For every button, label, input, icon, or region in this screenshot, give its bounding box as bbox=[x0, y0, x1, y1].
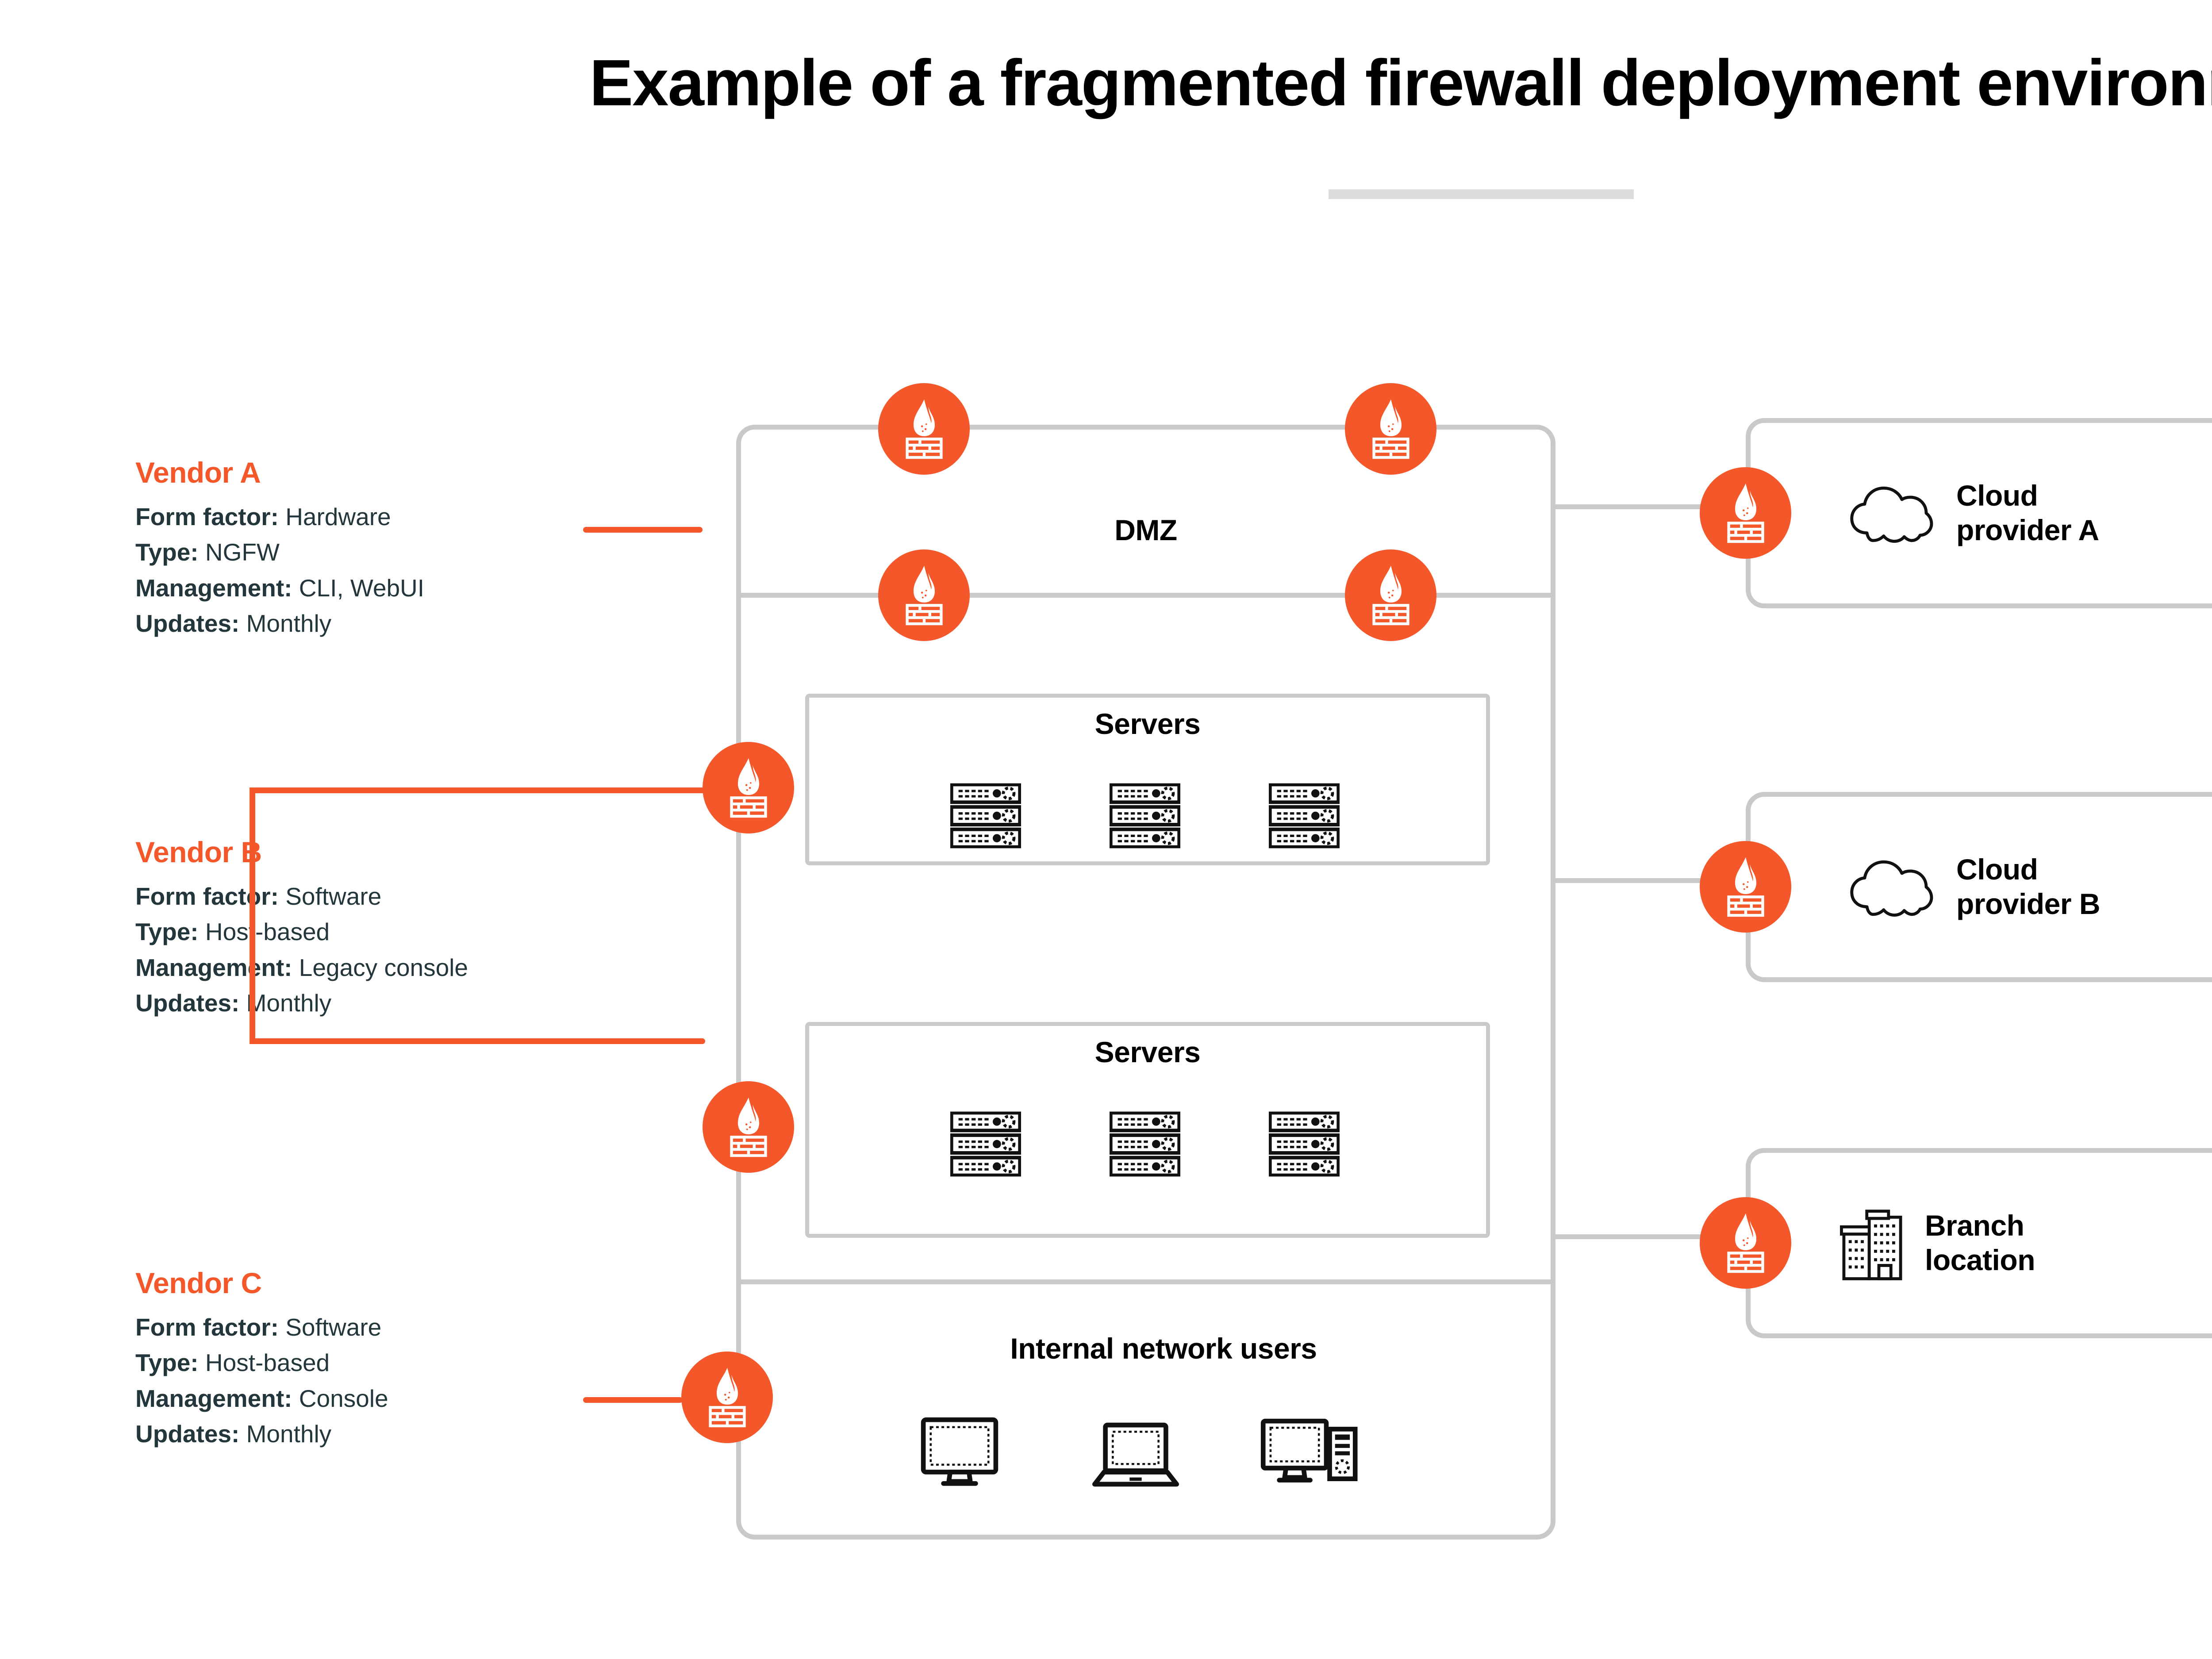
cloud-provider-b-card: Cloud provider B bbox=[1746, 792, 2212, 982]
firewall-icon[interactable] bbox=[1700, 467, 1791, 559]
firewall-icon[interactable] bbox=[1700, 1197, 1791, 1289]
servers-label-1: Servers bbox=[805, 707, 1490, 741]
server-rack-icon bbox=[950, 783, 1021, 849]
label-updates: Updates: bbox=[135, 610, 246, 637]
firewall-icon[interactable] bbox=[681, 1352, 773, 1443]
title-divider-rule bbox=[1329, 189, 1634, 199]
label-form-factor: Form factor: bbox=[135, 1313, 285, 1341]
building-icon bbox=[1839, 1204, 1905, 1283]
vendor-a-management: Management: CLI, WebUI bbox=[135, 570, 424, 606]
server-rack-icon bbox=[1269, 1111, 1340, 1177]
vendor-b-leader-line-bottom bbox=[250, 1038, 705, 1044]
internal-network-users-label: Internal network users bbox=[787, 1332, 1540, 1365]
value-management: Console bbox=[299, 1385, 388, 1412]
vendor-c-management: Management: Console bbox=[135, 1381, 388, 1416]
vendor-b-form-factor: Form factor: Software bbox=[135, 879, 468, 914]
vendor-b-leader-line-top bbox=[250, 787, 705, 793]
vendor-b-updates: Updates: Monthly bbox=[135, 985, 468, 1021]
cloud-b-line2: provider B bbox=[1956, 887, 2100, 920]
label-updates: Updates: bbox=[135, 1420, 246, 1448]
cloud-a-line1: Cloud bbox=[1956, 479, 2038, 512]
value-updates: Monthly bbox=[246, 610, 332, 637]
vendor-c-updates: Updates: Monthly bbox=[135, 1416, 388, 1452]
desktop-tower-icon bbox=[1259, 1416, 1360, 1490]
label-management: Management: bbox=[135, 574, 299, 602]
vendor-b-info: Vendor B Form factor: Software Type: Hos… bbox=[135, 835, 468, 1021]
firewall-icon[interactable] bbox=[878, 549, 970, 641]
vendor-a-name: Vendor A bbox=[135, 456, 424, 489]
firewall-icon[interactable] bbox=[1345, 549, 1436, 641]
cloud-icon bbox=[1846, 856, 1937, 918]
monitor-icon bbox=[919, 1416, 1000, 1490]
value-management: CLI, WebUI bbox=[299, 574, 424, 602]
label-updates: Updates: bbox=[135, 989, 246, 1017]
network-divider-internal bbox=[736, 1279, 1555, 1284]
vendor-a-leader-line bbox=[583, 527, 703, 533]
laptop-icon bbox=[1092, 1421, 1179, 1488]
firewall-icon[interactable] bbox=[1700, 841, 1791, 933]
vendor-c-type: Type: Host-based bbox=[135, 1345, 388, 1380]
servers-label-2: Servers bbox=[805, 1035, 1490, 1069]
branch-location-card: Branch location bbox=[1746, 1148, 2212, 1338]
server-rack-icon bbox=[1110, 1111, 1180, 1177]
label-management: Management: bbox=[135, 954, 299, 981]
server-rack-icon bbox=[1110, 783, 1180, 849]
value-type: Host-based bbox=[205, 1349, 330, 1376]
vendor-c-name: Vendor C bbox=[135, 1266, 388, 1300]
vendor-a-info: Vendor A Form factor: Hardware Type: NGF… bbox=[135, 456, 424, 641]
firewall-icon[interactable] bbox=[703, 742, 794, 833]
cloud-provider-a-card: Cloud provider A bbox=[1746, 418, 2212, 608]
value-updates: Monthly bbox=[246, 989, 332, 1017]
server-rack-icon bbox=[950, 1111, 1021, 1177]
firewall-icon[interactable] bbox=[703, 1081, 794, 1173]
vendor-c-form-factor: Form factor: Software bbox=[135, 1310, 388, 1345]
label-type: Type: bbox=[135, 1349, 205, 1376]
label-form-factor: Form factor: bbox=[135, 883, 285, 910]
vendor-a-type: Type: NGFW bbox=[135, 534, 424, 570]
server-rack-icon bbox=[1269, 783, 1340, 849]
vendor-c-leader-line bbox=[583, 1397, 683, 1403]
branch-line2: location bbox=[1925, 1244, 2035, 1276]
dmz-label: DMZ bbox=[736, 513, 1555, 547]
diagram-canvas: Example of a fragmented firewall deploym… bbox=[0, 0, 2212, 1659]
value-form-factor: Software bbox=[285, 1313, 381, 1341]
cloud-a-line2: provider A bbox=[1956, 514, 2099, 546]
firewall-icon[interactable] bbox=[1345, 383, 1436, 475]
vendor-b-leader-vertical bbox=[250, 787, 255, 1044]
cloud-provider-a-label: Cloud provider A bbox=[1956, 479, 2099, 548]
vendor-c-info: Vendor C Form factor: Software Type: Hos… bbox=[135, 1266, 388, 1452]
label-management: Management: bbox=[135, 1385, 299, 1412]
value-management: Legacy console bbox=[299, 954, 468, 981]
branch-location-label: Branch location bbox=[1925, 1209, 2035, 1278]
cloud-icon bbox=[1846, 483, 1937, 544]
vendor-b-name: Vendor B bbox=[135, 835, 468, 869]
vendor-b-management: Management: Legacy console bbox=[135, 950, 468, 985]
value-updates: Monthly bbox=[246, 1420, 332, 1448]
value-type: NGFW bbox=[205, 538, 280, 566]
vendor-b-type: Type: Host-based bbox=[135, 914, 468, 949]
label-type: Type: bbox=[135, 918, 205, 945]
label-type: Type: bbox=[135, 538, 205, 566]
page-title: Example of a fragmented firewall deploym… bbox=[0, 49, 2212, 117]
cloud-provider-b-label: Cloud provider B bbox=[1956, 853, 2100, 922]
vendor-a-form-factor: Form factor: Hardware bbox=[135, 499, 424, 534]
value-form-factor: Hardware bbox=[285, 503, 391, 530]
vendor-a-updates: Updates: Monthly bbox=[135, 606, 424, 641]
cloud-b-line1: Cloud bbox=[1956, 853, 2038, 886]
value-type: Host-based bbox=[205, 918, 330, 945]
branch-line1: Branch bbox=[1925, 1209, 2024, 1242]
firewall-icon[interactable] bbox=[878, 383, 970, 475]
value-form-factor: Software bbox=[285, 883, 381, 910]
label-form-factor: Form factor: bbox=[135, 503, 285, 530]
